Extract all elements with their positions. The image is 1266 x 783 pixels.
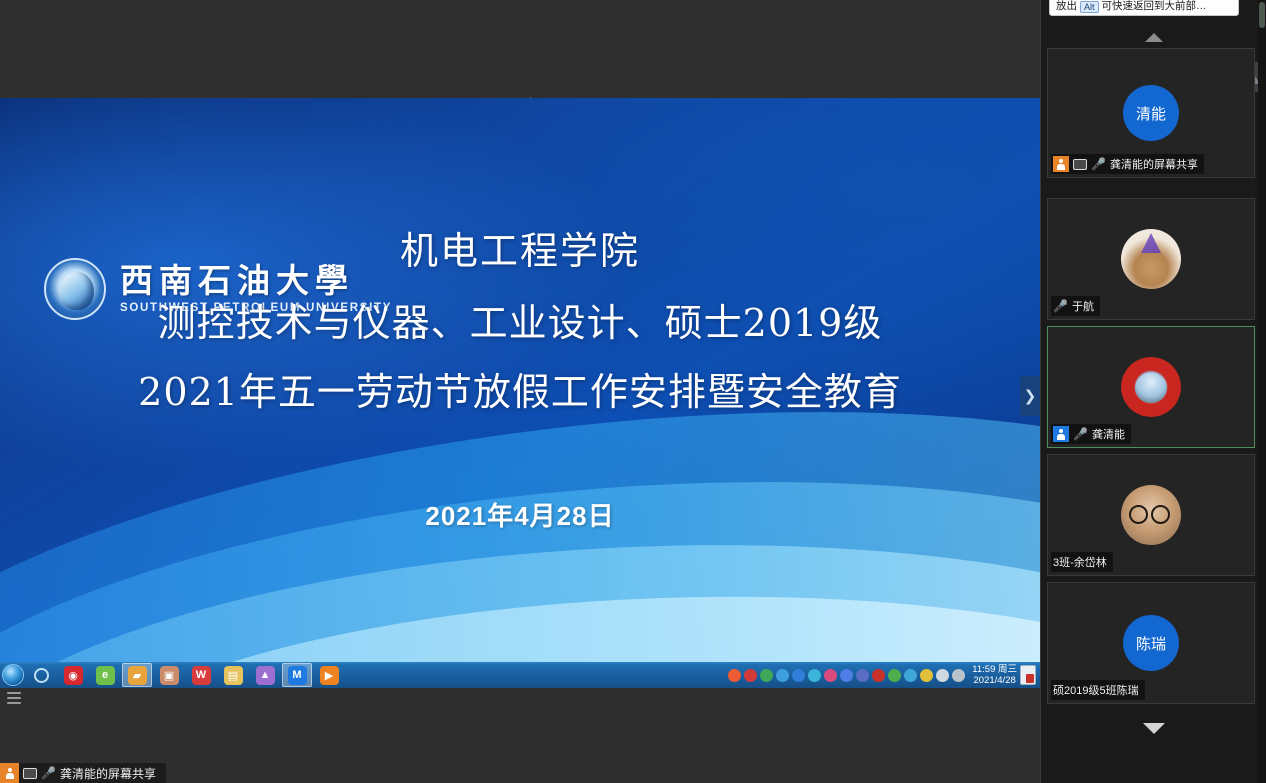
participant-tile[interactable]: 🎤龚清能 [1047,326,1255,448]
slide-title-block: 机电工程学院 测控技术与仪器、工业设计、硕士2019级 2021年五一劳动节放假… [0,228,1040,417]
umbrella-icon[interactable] [744,669,757,682]
remote-desktop-top-area [0,0,1040,98]
host-badge-icon [1053,156,1069,172]
browser-icon[interactable]: e [90,663,120,687]
participant-label: 硕2019级5班陈瑞 [1051,680,1145,700]
wps-office-icon[interactable]: W [186,663,216,687]
chevron-down-icon [1143,723,1165,734]
avatar [1121,229,1181,289]
cloud-icon[interactable] [808,669,821,682]
participant-tile[interactable]: 🎤于航 [1047,198,1255,320]
wps-office-icon-glyph: W [192,666,211,685]
avatar-image [1121,229,1181,289]
taskbar-tray: 11:59 周三 2021/4/28 [728,664,1040,686]
netease-music-icon-glyph: ◉ [64,666,83,685]
shared-screen-region: 西南石油大學 SOUTHWEST PETROLEUM UNIVERSITY 机电… [0,0,1040,783]
scroll-down-button[interactable] [1041,715,1266,741]
slide-next-button[interactable]: ❯ [1020,376,1040,416]
network-icon[interactable] [952,669,965,682]
participant-name: 龚清能的屏幕共享 [1110,156,1198,172]
avatar: 清能 [1123,85,1179,141]
participant-name: 于航 [1072,298,1094,314]
browser-icon-glyph: e [96,666,115,685]
participant-name: 硕2019级5班陈瑞 [1053,682,1139,698]
clock-time: 11:59 周三 [972,664,1017,675]
warning-icon[interactable] [920,669,933,682]
taskbar-clock[interactable]: 11:59 周三 2021/4/28 [972,664,1017,686]
notes-icon-glyph: ▤ [224,666,243,685]
avatar [1121,357,1181,417]
avatar [1121,485,1181,545]
participant-label: 🎤龚清能的屏幕共享 [1051,154,1204,174]
start-button-icon[interactable] [2,664,24,686]
participant-tile[interactable]: 陈瑞硕2019级5班陈瑞 [1047,582,1255,704]
participant-label: 3班-余岱林 [1051,552,1113,572]
chevron-up-icon [1145,33,1163,42]
taskbar-search-icon[interactable] [26,663,56,687]
participant-label: 🎤龚清能 [1051,424,1131,444]
taskbar-app-list: ◉e▰▣W▤▲M▶ [0,663,344,687]
clock-date: 2021/4/28 [972,675,1017,686]
scroll-up-button[interactable] [1041,26,1266,48]
sogou-input-icon[interactable] [728,669,741,682]
slide-title-line-2: 测控技术与仪器、工业设计、硕士2019级 [0,300,1040,348]
participant-tile[interactable]: 清能🎤龚清能的屏幕共享 [1047,48,1255,178]
windows-taskbar[interactable]: ◉e▰▣W▤▲M▶ 11:59 周三 2021/4/28 [0,662,1040,688]
host-badge-icon [0,763,19,783]
participant-name: 3班-余岱林 [1053,554,1107,570]
media-player-icon[interactable]: ▶ [314,663,344,687]
leaf-icon[interactable] [888,669,901,682]
photo-viewer-icon[interactable]: ▣ [154,663,184,687]
app-root: 西南石油大學 SOUTHWEST PETROLEUM UNIVERSITY 机电… [0,0,1266,783]
panel-scrollbar[interactable] [1258,0,1266,783]
slide-title-line-3: 2021年五一劳动节放假工作安排暨安全教育 [0,369,1040,417]
media-player-icon-glyph: ▶ [320,666,339,685]
participant-tile[interactable]: 3班-余岱林 [1047,454,1255,576]
mic-off-icon: 🎤 [1053,300,1068,312]
box-icon[interactable] [904,669,917,682]
picture-icon[interactable]: ▲ [250,663,280,687]
slide-decoration-wave-3 [0,513,1040,662]
participant-label: 🎤于航 [1051,296,1100,316]
tooltip-suffix: 可快速返回到大前部… [1102,0,1207,13]
show-desktop-icon[interactable] [1020,665,1036,685]
photo-viewer-icon-glyph: ▣ [160,666,179,685]
slide-decoration-wave-2 [0,429,1040,662]
netease-music-icon[interactable]: ◉ [58,663,88,687]
monitor-icon [23,768,37,779]
mic-on-icon: 🎤 [1073,428,1088,440]
monitor-icon [1073,159,1087,170]
avatar: 陈瑞 [1123,615,1179,671]
mountain-icon[interactable] [792,669,805,682]
alt-key-badge: Alt [1080,1,1099,13]
slide-title-line-1: 机电工程学院 [0,228,1040,276]
tooltip-prefix: 放出 [1056,0,1077,13]
file-explorer-icon-glyph: ▰ [128,666,147,685]
volume-icon[interactable] [936,669,949,682]
slide-date: 2021年4月28日 [0,496,1040,533]
mic-off-icon: 🎤 [1091,158,1106,170]
picture-icon-glyph: ▲ [256,666,275,685]
panel-scrollbar-thumb[interactable] [1259,2,1265,28]
host-badge-icon [1053,426,1069,442]
qq-icon[interactable] [872,669,885,682]
participant-name: 龚清能 [1092,426,1125,442]
grid-icon[interactable] [840,669,853,682]
screen-share-banner-label: 龚清能的屏幕共享 [60,765,156,782]
shield-icon[interactable] [824,669,837,682]
mic-off-icon: 🎤 [41,767,56,779]
participants-panel: 放出 Alt 可快速返回到大前部… 🎤 正在讲话: 龚清能; ↰ 清能🎤龚清能的… [1040,0,1266,783]
folder-icon[interactable] [856,669,869,682]
notes-icon[interactable]: ▤ [218,663,248,687]
security-icon[interactable] [760,669,773,682]
presentation-slide[interactable]: 西南石油大學 SOUTHWEST PETROLEUM UNIVERSITY 机电… [0,98,1040,662]
meeting-app-icon-glyph: M [288,666,307,685]
slide-decoration-wave-4 [34,576,1040,662]
file-explorer-icon[interactable]: ▰ [122,663,152,687]
screen-share-banner: 🎤 龚清能的屏幕共享 [0,763,166,783]
telegram-icon[interactable] [776,669,789,682]
meeting-app-icon[interactable]: M [282,663,312,687]
avatar-image [1121,357,1181,417]
avatar-image [1121,485,1181,545]
menu-icon[interactable] [7,690,23,706]
keyboard-hint-tooltip: 放出 Alt 可快速返回到大前部… [1049,0,1239,16]
